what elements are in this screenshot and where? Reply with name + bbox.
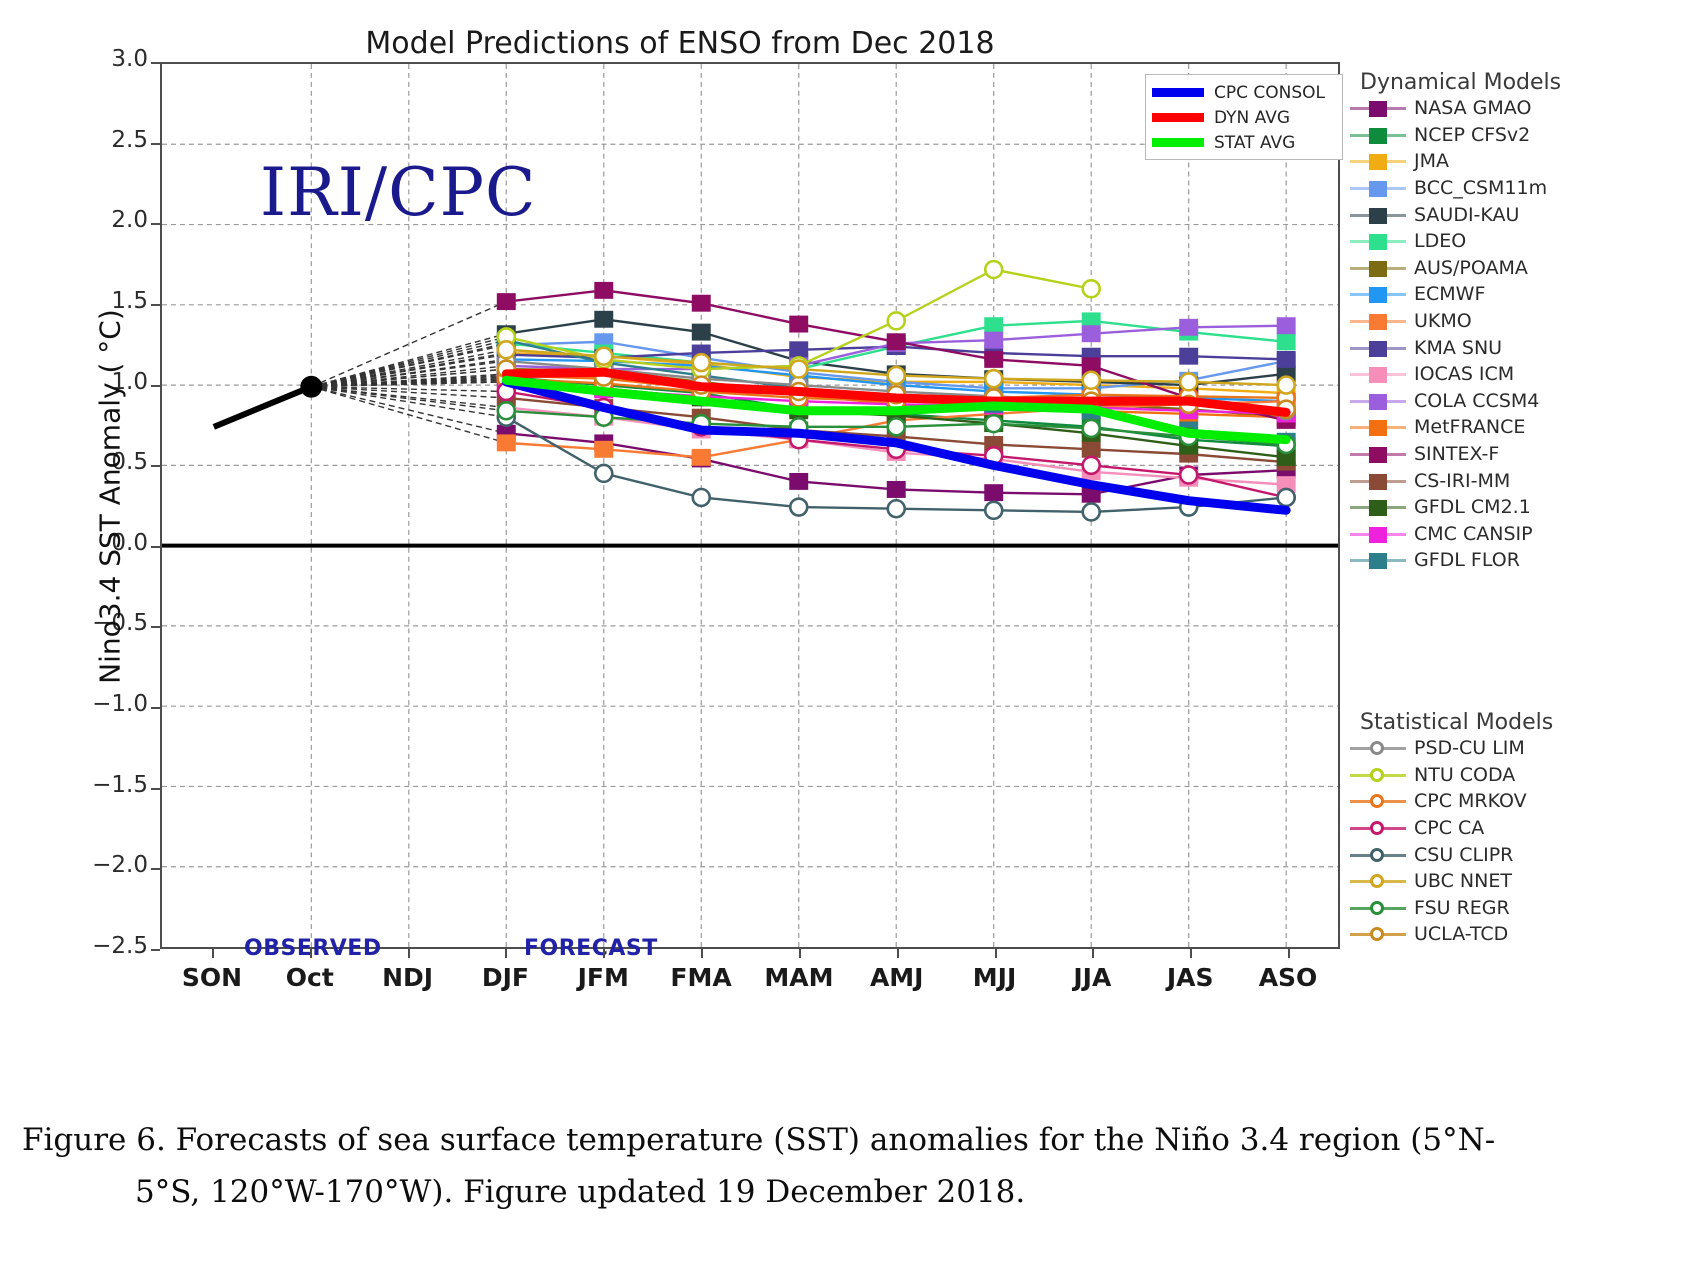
- legend-item: NASA GMAO: [1350, 95, 1684, 122]
- legend-item-label: KMA SNU: [1414, 337, 1502, 359]
- series-marker: [1180, 373, 1197, 390]
- series-marker: [1277, 351, 1295, 367]
- legend-item: KMA SNU: [1350, 334, 1684, 361]
- legend-marker: [1350, 522, 1406, 546]
- series-marker: [497, 294, 515, 310]
- observed-line: [214, 387, 311, 427]
- legend-item-label: NCEP CFSv2: [1414, 124, 1530, 146]
- legend-marker: [1350, 922, 1406, 946]
- legend-marker: [1350, 336, 1406, 360]
- series-marker: [1083, 503, 1100, 520]
- legend-square-marker: [1369, 420, 1387, 436]
- legend-item: CSU CLIPR: [1350, 841, 1684, 868]
- legend-item: BCC_CSM11m: [1350, 175, 1684, 202]
- legend-square-marker: [1369, 234, 1387, 250]
- model-legends: Dynamical Models NASA GMAONCEP CFSv2JMAB…: [1350, 70, 1684, 970]
- dynamical-models-title: Dynamical Models: [1360, 70, 1684, 95]
- legend-item: UBC NNET: [1350, 868, 1684, 895]
- series-marker: [498, 341, 515, 358]
- series-marker: [790, 499, 807, 516]
- y-axis-tick-mark: [151, 949, 160, 951]
- legend-item-label: ECMWF: [1414, 283, 1485, 305]
- legend-color-swatch: [1152, 113, 1204, 122]
- legend-marker: [1350, 896, 1406, 920]
- legend-circle-marker: [1370, 821, 1384, 835]
- legend-item: IOCAS ICM: [1350, 361, 1684, 388]
- series-marker: [1083, 420, 1100, 437]
- legend-item: CPC CA: [1350, 815, 1684, 842]
- consensus-legend: CPC CONSOLDYN AVGSTAT AVG: [1145, 74, 1343, 160]
- legend-item: GFDL CM2.1: [1350, 494, 1684, 521]
- legend-marker: [1350, 149, 1406, 173]
- legend-marker: [1350, 469, 1406, 493]
- consensus-legend-item: STAT AVG: [1152, 130, 1336, 155]
- legend-marker: [1350, 256, 1406, 280]
- legend-item-label: SINTEX-F: [1414, 443, 1499, 465]
- legend-item: NTU CODA: [1350, 762, 1684, 789]
- legend-marker: [1350, 442, 1406, 466]
- legend-marker: [1350, 548, 1406, 572]
- series-marker: [790, 473, 808, 489]
- series-marker: [595, 441, 613, 457]
- x-axis-tick-mark: [1092, 949, 1094, 958]
- y-axis-tick-mark: [151, 223, 160, 225]
- legend-circle-marker: [1370, 874, 1384, 888]
- legend-marker: [1350, 203, 1406, 227]
- legend-marker: [1350, 96, 1406, 120]
- legend-marker: [1350, 415, 1406, 439]
- legend-item: UCLA-TCD: [1350, 921, 1684, 948]
- legend-circle-marker: [1370, 901, 1384, 915]
- legend-item: PSD-CU LIM: [1350, 735, 1684, 762]
- y-axis-tick-mark: [151, 707, 160, 709]
- series-marker: [595, 348, 612, 365]
- legend-item: CPC MRKOV: [1350, 788, 1684, 815]
- series-marker: [1082, 326, 1100, 342]
- legend-square-marker: [1369, 314, 1387, 330]
- legend-marker: [1350, 869, 1406, 893]
- series-marker: [985, 415, 1002, 432]
- legend-square-marker: [1369, 367, 1387, 383]
- legend-item-label: GFDL CM2.1: [1414, 496, 1531, 518]
- y-axis-tick-mark: [151, 626, 160, 628]
- y-axis-label: Nino3.4 SST Anomaly ( °C): [94, 177, 127, 817]
- x-axis-tick-mark: [897, 949, 899, 958]
- legend-square-marker: [1369, 553, 1387, 569]
- figure-caption: Figure 6. Forecasts of sea surface tempe…: [0, 1060, 1684, 1262]
- x-axis-tick-mark: [408, 949, 410, 958]
- legend-square-marker: [1369, 154, 1387, 170]
- series-marker: [985, 351, 1003, 367]
- plot-area: IRI/CPC OBSERVED FORECAST: [160, 62, 1340, 949]
- legend-marker: [1350, 229, 1406, 253]
- legend-item-label: CPC MRKOV: [1414, 790, 1527, 812]
- legend-item: FSU REGR: [1350, 895, 1684, 922]
- legend-item: AUS/POAMA: [1350, 255, 1684, 282]
- legend-item-label: UKMO: [1414, 310, 1472, 332]
- x-axis-tick-mark: [701, 949, 703, 958]
- forecast-label: FORECAST: [524, 936, 658, 961]
- legend-item-label: BCC_CSM11m: [1414, 177, 1547, 199]
- series-marker: [693, 354, 710, 371]
- series-marker: [693, 489, 710, 506]
- legend-square-marker: [1369, 128, 1387, 144]
- legend-item: NCEP CFSv2: [1350, 122, 1684, 149]
- legend-item-label: NTU CODA: [1414, 764, 1515, 786]
- series-marker: [692, 449, 710, 465]
- x-axis-tick-mark: [1190, 949, 1192, 958]
- legend-item-label: IOCAS ICM: [1414, 363, 1514, 385]
- legend-marker: [1350, 123, 1406, 147]
- legend-marker: [1350, 495, 1406, 519]
- legend-marker: [1350, 843, 1406, 867]
- y-axis-tick-mark: [151, 788, 160, 790]
- x-axis-tick-mark: [505, 949, 507, 958]
- legend-circle-marker: [1370, 741, 1384, 755]
- forecast-fanout-line: [311, 382, 506, 387]
- series-marker: [888, 312, 905, 329]
- legend-item-label: AUS/POAMA: [1414, 257, 1528, 279]
- series-marker: [790, 342, 808, 358]
- legend-circle-marker: [1370, 848, 1384, 862]
- legend-item-label: GFDL FLOR: [1414, 549, 1520, 571]
- iri-cpc-watermark: IRI/CPC: [260, 154, 536, 231]
- legend-item-label: LDEO: [1414, 230, 1466, 252]
- legend-marker: [1350, 176, 1406, 200]
- series-marker: [497, 435, 515, 451]
- series-marker: [498, 402, 515, 419]
- x-axis-tick-mark: [799, 949, 801, 958]
- legend-item-label: CS-IRI-MM: [1414, 470, 1510, 492]
- legend-square-marker: [1369, 341, 1387, 357]
- series-marker: [790, 361, 807, 378]
- legend-item: MetFRANCE: [1350, 414, 1684, 441]
- series-marker: [888, 500, 905, 517]
- legend-item: COLA CCSM4: [1350, 388, 1684, 415]
- legend-item-label: COLA CCSM4: [1414, 390, 1539, 412]
- legend-item: CMC CANSIP: [1350, 521, 1684, 548]
- legend-item-label: JMA: [1414, 150, 1449, 172]
- legend-item-label: UCLA-TCD: [1414, 923, 1508, 945]
- legend-item-label: FSU REGR: [1414, 897, 1510, 919]
- y-axis-tick-mark: [151, 62, 160, 64]
- legend-item: ECMWF: [1350, 281, 1684, 308]
- legend-item-label: SAUDI-KAU: [1414, 204, 1519, 226]
- series-marker: [985, 502, 1002, 519]
- consensus-legend-label: CPC CONSOL: [1214, 83, 1325, 103]
- series-marker: [1082, 441, 1100, 457]
- x-axis-tick-mark: [310, 949, 312, 958]
- legend-square-marker: [1369, 208, 1387, 224]
- series-marker: [985, 318, 1003, 334]
- series-marker: [692, 324, 710, 340]
- series-marker: [1180, 319, 1198, 335]
- legend-marker: [1350, 282, 1406, 306]
- x-axis-tick-mark: [212, 949, 214, 958]
- series-marker: [985, 370, 1002, 387]
- legend-item-label: CMC CANSIP: [1414, 523, 1533, 545]
- legend-marker: [1350, 309, 1406, 333]
- legend-item-label: UBC NNET: [1414, 870, 1512, 892]
- legend-circle-marker: [1370, 768, 1384, 782]
- legend-item-label: CSU CLIPR: [1414, 844, 1513, 866]
- series-marker: [1180, 467, 1197, 484]
- series-marker: [790, 316, 808, 332]
- legend-item: LDEO: [1350, 228, 1684, 255]
- series-marker: [1277, 334, 1295, 350]
- legend-square-marker: [1369, 527, 1387, 543]
- consensus-legend-label: STAT AVG: [1214, 133, 1295, 153]
- statistical-models-title: Statistical Models: [1360, 710, 1684, 735]
- legend-color-swatch: [1152, 88, 1204, 97]
- consensus-legend-item: CPC CONSOL: [1152, 80, 1336, 105]
- caption-line-1: Figure 6. Forecasts of sea surface tempe…: [22, 1118, 1495, 1162]
- series-marker: [985, 261, 1002, 278]
- legend-item: JMA: [1350, 148, 1684, 175]
- legend-item-label: PSD-CU LIM: [1414, 737, 1525, 759]
- chart-title: Model Predictions of ENSO from Dec 2018: [0, 26, 1360, 61]
- x-axis-tick-mark: [995, 949, 997, 958]
- legend-marker: [1350, 789, 1406, 813]
- forecast-fanout-line: [311, 382, 506, 387]
- series-marker: [1278, 489, 1295, 506]
- consensus-legend-label: DYN AVG: [1214, 108, 1290, 128]
- y-axis-tick-mark: [151, 868, 160, 870]
- consensus-legend-item: DYN AVG: [1152, 105, 1336, 130]
- legend-item-label: MetFRANCE: [1414, 416, 1525, 438]
- enso-forecast-figure: Model Predictions of ENSO from Dec 2018 …: [0, 0, 1684, 1060]
- y-axis-tick-label: 2.5: [52, 129, 148, 152]
- x-axis-tick-mark: [603, 949, 605, 958]
- legend-square-marker: [1369, 394, 1387, 410]
- x-axis-tick-mark: [1288, 949, 1290, 958]
- legend-item-label: NASA GMAO: [1414, 97, 1531, 119]
- y-axis-tick-label: 3.0: [52, 48, 148, 71]
- legend-item: CS-IRI-MM: [1350, 467, 1684, 494]
- series-marker: [887, 481, 905, 497]
- x-axis-tick-label: ASO: [1228, 963, 1348, 992]
- series-marker: [1083, 280, 1100, 297]
- legend-circle-marker: [1370, 927, 1384, 941]
- observed-label: OBSERVED: [244, 936, 382, 961]
- y-axis-tick-mark: [151, 143, 160, 145]
- series-marker: [1083, 372, 1100, 389]
- y-axis-tick-label: −2.5: [52, 935, 148, 958]
- series-marker: [595, 465, 612, 482]
- legend-item: SINTEX-F: [1350, 441, 1684, 468]
- legend-square-marker: [1369, 261, 1387, 277]
- series-marker: [1180, 348, 1198, 364]
- statistical-models-legend: Statistical Models PSD-CU LIMNTU CODACPC…: [1350, 710, 1684, 948]
- legend-item: SAUDI-KAU: [1350, 201, 1684, 228]
- series-marker: [887, 334, 905, 350]
- legend-marker: [1350, 389, 1406, 413]
- series-marker: [1277, 318, 1295, 334]
- series-marker: [595, 282, 613, 298]
- legend-item: UKMO: [1350, 308, 1684, 335]
- series-marker: [985, 332, 1003, 348]
- y-axis-tick-mark: [151, 465, 160, 467]
- legend-square-marker: [1369, 101, 1387, 117]
- y-axis-tick-label: −2.0: [52, 854, 148, 877]
- y-axis-tick-mark: [151, 304, 160, 306]
- legend-square-marker: [1369, 474, 1387, 490]
- legend-marker: [1350, 763, 1406, 787]
- series-marker: [985, 485, 1003, 501]
- series-marker: [595, 311, 613, 327]
- legend-square-marker: [1369, 287, 1387, 303]
- series-marker: [692, 295, 710, 311]
- legend-marker: [1350, 736, 1406, 760]
- dynamical-models-legend: Dynamical Models NASA GMAONCEP CFSv2JMAB…: [1350, 70, 1684, 574]
- series-marker: [888, 418, 905, 435]
- series-marker: [888, 367, 905, 384]
- legend-marker: [1350, 816, 1406, 840]
- y-axis-tick-mark: [151, 385, 160, 387]
- series-marker: [1278, 377, 1295, 394]
- legend-circle-marker: [1370, 794, 1384, 808]
- legend-square-marker: [1369, 500, 1387, 516]
- legend-square-marker: [1369, 181, 1387, 197]
- caption-line-2: 5°S, 120°W-170°W). Figure updated 19 Dec…: [135, 1170, 1025, 1214]
- legend-color-swatch: [1152, 138, 1204, 147]
- legend-item-label: CPC CA: [1414, 817, 1484, 839]
- legend-square-marker: [1369, 447, 1387, 463]
- y-axis-tick-mark: [151, 546, 160, 548]
- observed-anchor-point: [300, 376, 322, 398]
- series-marker: [1083, 457, 1100, 474]
- legend-marker: [1350, 362, 1406, 386]
- legend-item: GFDL FLOR: [1350, 547, 1684, 574]
